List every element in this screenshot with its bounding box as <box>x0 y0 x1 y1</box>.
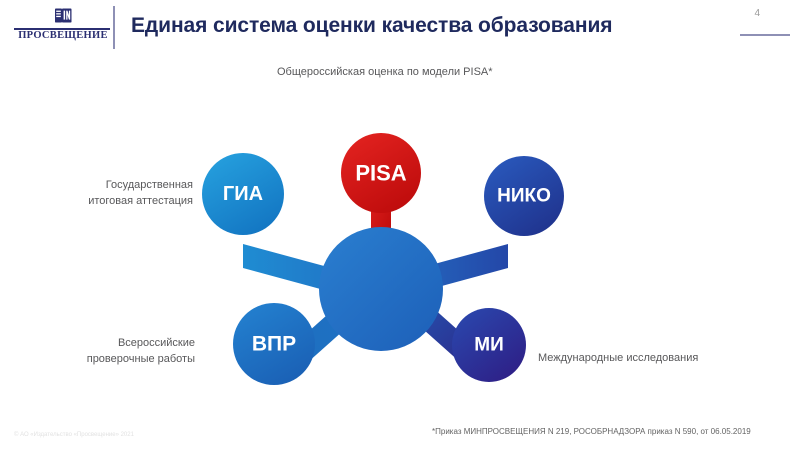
annotation-pisa: Общероссийская оценка по модели PISA* <box>277 65 493 81</box>
node-gia-label: ГИА <box>223 183 263 205</box>
page-number: 4 <box>754 8 760 19</box>
book-emblem-icon <box>54 8 73 25</box>
footnote: *Приказ МИНПРОСВЕЩЕНИЯ N 219, РОСОБРНАДЗ… <box>432 427 751 436</box>
node-niko-label: НИКО <box>497 186 551 207</box>
node-vpr-label: ВПР <box>252 333 296 356</box>
diagram-hub <box>319 227 443 351</box>
annotation-mi: Международные исследования <box>538 351 698 367</box>
logo-wordmark: ПРОСВЕЩЕНИЕ <box>8 30 118 41</box>
slide-header: ПРОСВЕЩЕНИЕ Единая система оценки качест… <box>0 0 800 58</box>
page-number-rule <box>740 34 790 36</box>
header-divider <box>113 6 115 49</box>
node-mi-label: МИ <box>474 335 503 356</box>
annotation-vpr: Всероссийские проверочные работы <box>70 336 195 368</box>
slide: ПРОСВЕЩЕНИЕ Единая система оценки качест… <box>0 0 800 450</box>
node-pisa-label: PISA <box>355 161 406 186</box>
annotation-gia: Государственная итоговая аттестация <box>88 178 193 210</box>
assessment-system-diagram: PISA ГИА НИКО ВПР МИ Общероссийская оцен… <box>0 58 800 398</box>
copyright-notice: © АО «Издательство «Просвещение» 2021 <box>14 432 134 438</box>
page-title: Единая система оценки качества образован… <box>131 14 612 38</box>
brand-logo: ПРОСВЕЩЕНИЕ <box>8 6 108 50</box>
